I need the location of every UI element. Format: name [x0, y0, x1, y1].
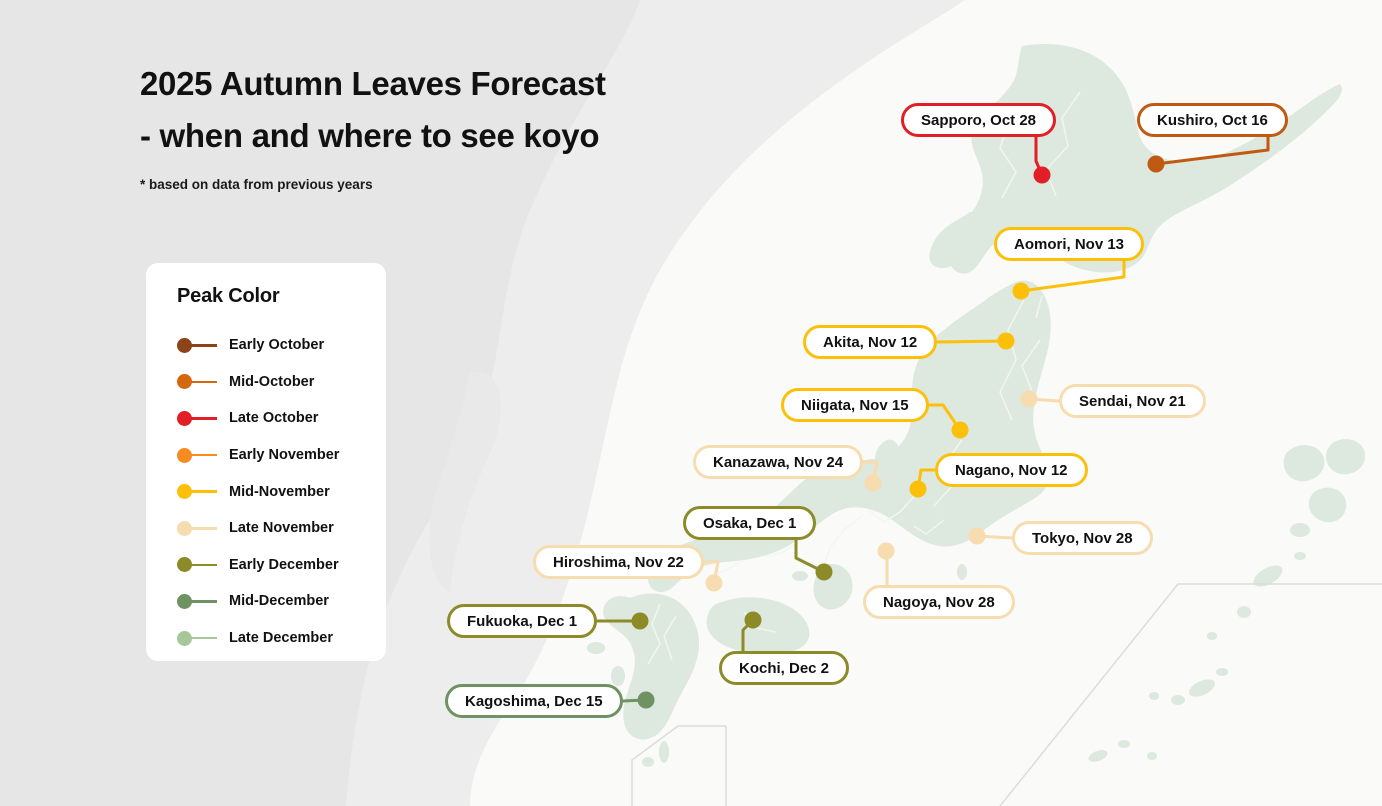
island-ryukyu-7: [1237, 606, 1251, 618]
legend-swatch-dot: [177, 484, 192, 499]
title-line-1: 2025 Autumn Leaves Forecast: [140, 58, 606, 110]
island-goto: [587, 642, 605, 654]
legend-item-label: Mid-October: [229, 374, 314, 390]
legend-swatch-line: [191, 454, 217, 457]
subtitle-note: * based on data from previous years: [140, 177, 373, 192]
legend-item-label: Late November: [229, 520, 334, 536]
legend-panel: Peak Color Early OctoberMid-OctoberLate …: [146, 263, 386, 661]
island-amakusa: [611, 666, 625, 686]
city-label-text: Kanazawa, Nov 24: [713, 454, 843, 471]
legend-swatch-line: [191, 637, 217, 640]
city-dot-tokyo[interactable]: [969, 528, 986, 545]
legend-item-late-december[interactable]: Late December: [177, 620, 377, 657]
island-tanegashima: [659, 741, 669, 763]
legend-item-late-november[interactable]: Late November: [177, 510, 377, 547]
city-dot-kanazawa[interactable]: [865, 475, 882, 492]
legend-swatch-line: [191, 600, 217, 603]
city-dot-fukuoka[interactable]: [632, 613, 649, 630]
legend-item-late-october[interactable]: Late October: [177, 400, 377, 437]
city-label-kagoshima[interactable]: Kagoshima, Dec 15: [445, 684, 623, 718]
city-dot-nagoya[interactable]: [878, 543, 895, 560]
island-ryukyu-9: [1216, 668, 1228, 676]
city-label-text: Fukuoka, Dec 1: [467, 613, 577, 630]
city-label-text: Kushiro, Oct 16: [1157, 112, 1268, 129]
city-label-tokyo[interactable]: Tokyo, Nov 28: [1012, 521, 1153, 555]
city-label-niigata[interactable]: Niigata, Nov 15: [781, 388, 929, 422]
legend-swatch-line: [191, 490, 217, 493]
city-dot-hiroshima[interactable]: [706, 575, 723, 592]
city-label-sendai[interactable]: Sendai, Nov 21: [1059, 384, 1206, 418]
city-label-kushiro[interactable]: Kushiro, Oct 16: [1137, 103, 1288, 137]
island-izu: [957, 564, 967, 580]
city-dot-sapporo[interactable]: [1034, 167, 1051, 184]
legend-item-early-november[interactable]: Early November: [177, 437, 377, 474]
island-ryukyu-4: [1290, 523, 1310, 537]
city-label-text: Sendai, Nov 21: [1079, 393, 1186, 410]
legend-swatch-line: [191, 381, 217, 384]
city-label-fukuoka[interactable]: Fukuoka, Dec 1: [447, 604, 597, 638]
city-label-nagano[interactable]: Nagano, Nov 12: [935, 453, 1088, 487]
city-label-kochi[interactable]: Kochi, Dec 2: [719, 651, 849, 685]
city-label-text: Aomori, Nov 13: [1014, 236, 1124, 253]
city-dot-aomori[interactable]: [1013, 283, 1030, 300]
city-dot-niigata[interactable]: [952, 422, 969, 439]
legend-swatch-line: [191, 344, 217, 347]
legend-title: Peak Color: [177, 285, 279, 308]
city-dot-sendai[interactable]: [1021, 391, 1038, 408]
city-label-text: Kochi, Dec 2: [739, 660, 829, 677]
legend-item-mid-december[interactable]: Mid-December: [177, 583, 377, 620]
city-label-aomori[interactable]: Aomori, Nov 13: [994, 227, 1144, 261]
city-dot-osaka[interactable]: [816, 564, 833, 581]
legend-swatch-dot: [177, 338, 192, 353]
island-awaji: [792, 571, 808, 581]
legend-item-mid-october[interactable]: Mid-October: [177, 364, 377, 401]
legend-swatch-line: [191, 564, 217, 567]
legend-item-label: Early November: [229, 447, 339, 463]
island-ryukyu-8: [1207, 632, 1217, 640]
city-label-text: Sapporo, Oct 28: [921, 112, 1036, 129]
city-label-text: Akita, Nov 12: [823, 334, 917, 351]
legend-swatch-dot: [177, 448, 192, 463]
city-label-text: Hiroshima, Nov 22: [553, 554, 684, 571]
legend-item-label: Early October: [229, 337, 324, 353]
legend-swatch-dot: [177, 374, 192, 389]
legend-item-label: Late October: [229, 410, 318, 426]
city-label-sapporo[interactable]: Sapporo, Oct 28: [901, 103, 1056, 137]
legend-item-mid-november[interactable]: Mid-November: [177, 473, 377, 510]
island-ryukyu-15: [1147, 752, 1157, 760]
infographic-canvas: 2025 Autumn Leaves Forecast - when and w…: [0, 0, 1382, 806]
city-label-text: Nagoya, Nov 28: [883, 594, 995, 611]
city-label-text: Kagoshima, Dec 15: [465, 693, 603, 710]
island-ryukyu-6: [1294, 552, 1306, 560]
city-label-text: Osaka, Dec 1: [703, 515, 796, 532]
city-label-text: Niigata, Nov 15: [801, 397, 909, 414]
legend-swatch-dot: [177, 557, 192, 572]
city-label-kanazawa[interactable]: Kanazawa, Nov 24: [693, 445, 863, 479]
city-dot-akita[interactable]: [998, 333, 1015, 350]
city-label-text: Nagano, Nov 12: [955, 462, 1068, 479]
island-sado: [934, 403, 954, 417]
legend-swatch-dot: [177, 594, 192, 609]
island-ryukyu-14: [1118, 740, 1130, 748]
legend-item-label: Mid-December: [229, 593, 329, 609]
island-ryukyu-12: [1149, 692, 1159, 700]
legend-swatch-dot: [177, 631, 192, 646]
legend-item-early-december[interactable]: Early December: [177, 547, 377, 584]
legend-item-label: Late December: [229, 630, 333, 646]
legend-swatch-dot: [177, 521, 192, 536]
legend-swatch-line: [191, 417, 217, 420]
legend-item-early-october[interactable]: Early October: [177, 327, 377, 364]
legend-swatch-dot: [177, 411, 192, 426]
city-label-akita[interactable]: Akita, Nov 12: [803, 325, 937, 359]
page-title: 2025 Autumn Leaves Forecast - when and w…: [140, 58, 606, 162]
title-line-2: - when and where to see koyo: [140, 110, 606, 162]
city-label-hiroshima[interactable]: Hiroshima, Nov 22: [533, 545, 704, 579]
island-yakushima: [642, 757, 654, 767]
city-label-nagoya[interactable]: Nagoya, Nov 28: [863, 585, 1015, 619]
city-dot-kushiro[interactable]: [1148, 156, 1165, 173]
city-dot-kagoshima[interactable]: [638, 692, 655, 709]
city-label-osaka[interactable]: Osaka, Dec 1: [683, 506, 816, 540]
city-dot-kochi[interactable]: [745, 612, 762, 629]
legend-item-label: Mid-November: [229, 484, 330, 500]
legend-item-label: Early December: [229, 557, 339, 573]
city-dot-nagano[interactable]: [910, 481, 927, 498]
legend-list: Early OctoberMid-OctoberLate OctoberEarl…: [177, 327, 377, 656]
island-ryukyu-11: [1171, 695, 1185, 705]
legend-swatch-line: [191, 527, 217, 530]
city-label-text: Tokyo, Nov 28: [1032, 530, 1133, 547]
